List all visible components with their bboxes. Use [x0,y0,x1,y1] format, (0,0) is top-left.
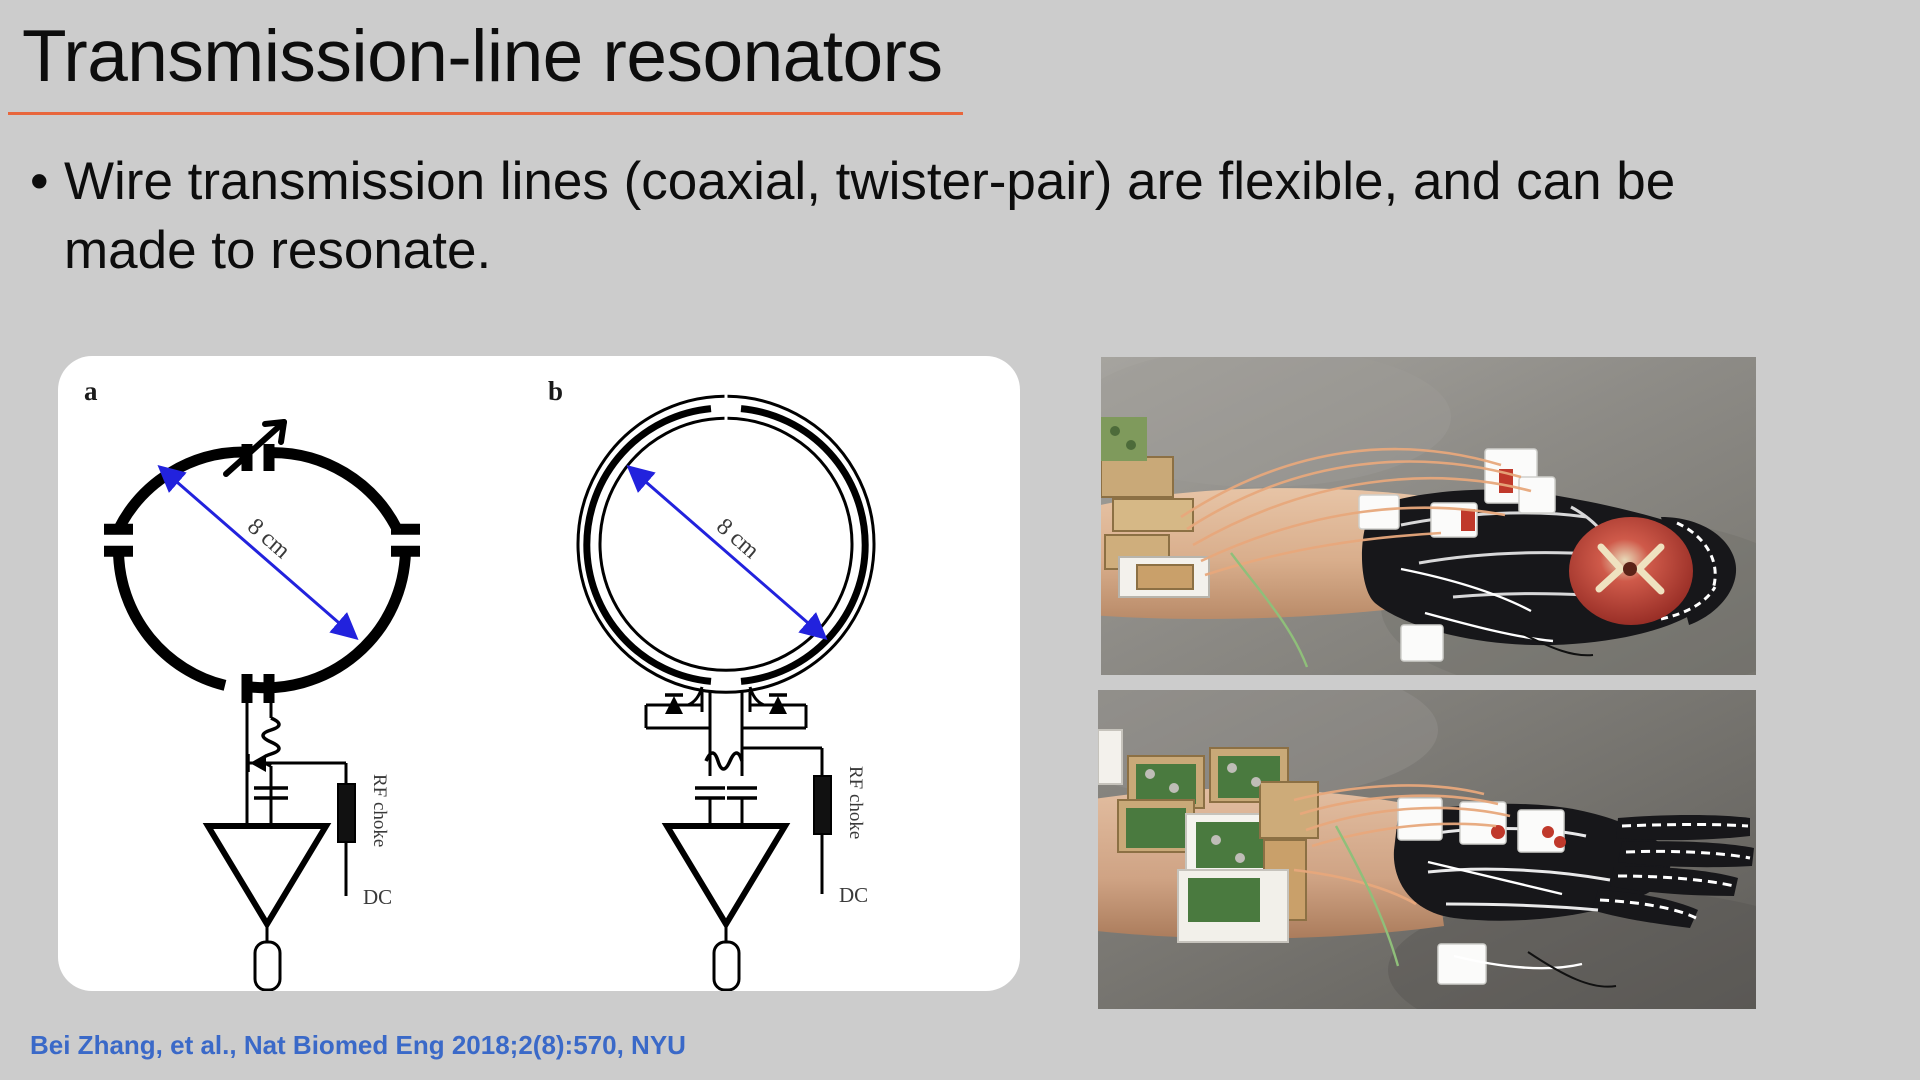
title-underline-rule [8,112,963,115]
figure-card: a b [58,356,1020,991]
photo-glove-coil-holding-apple [1101,357,1756,675]
rf-choke-label-b: RF choke [845,766,866,839]
diode-right-b [742,695,806,728]
panel-a-graphic: 8 cm [104,422,420,990]
resonator-schematic-diagram: 8 cm [58,356,1020,991]
bullet-marker-icon: • [30,148,64,217]
body-content: • Wire transmission lines (coaxial, twis… [30,148,1690,286]
preamplifier-b [667,826,785,924]
dc-label-a: DC [363,885,392,909]
diameter-label-a: 8 cm [242,513,295,564]
diameter-arrow-a [162,469,354,636]
dc-label-b: DC [839,883,868,907]
diameter-arrow-b [631,469,823,636]
capacitors-b [695,788,757,798]
photo-glove-coil-open-hand [1098,690,1756,1009]
coax-connector-a [255,924,280,990]
rf-choke-resistor-a [338,784,355,842]
page-title: Transmission-line resonators [22,20,942,93]
bullet-item: • Wire transmission lines (coaxial, twis… [30,148,1690,286]
diode-left-b [646,695,710,728]
rf-choke-resistor-b [814,776,831,834]
bullet-text: Wire transmission lines (coaxial, twiste… [64,148,1690,286]
coax-connector-b [714,924,739,990]
citation-reference: Bei Zhang, et al., Nat Biomed Eng 2018;2… [30,1030,686,1061]
diameter-label-b: 8 cm [711,513,764,564]
rf-choke-label-a: RF choke [369,774,390,847]
panel-b-graphic: 8 cm [578,396,874,990]
preamplifier-a [208,826,326,924]
